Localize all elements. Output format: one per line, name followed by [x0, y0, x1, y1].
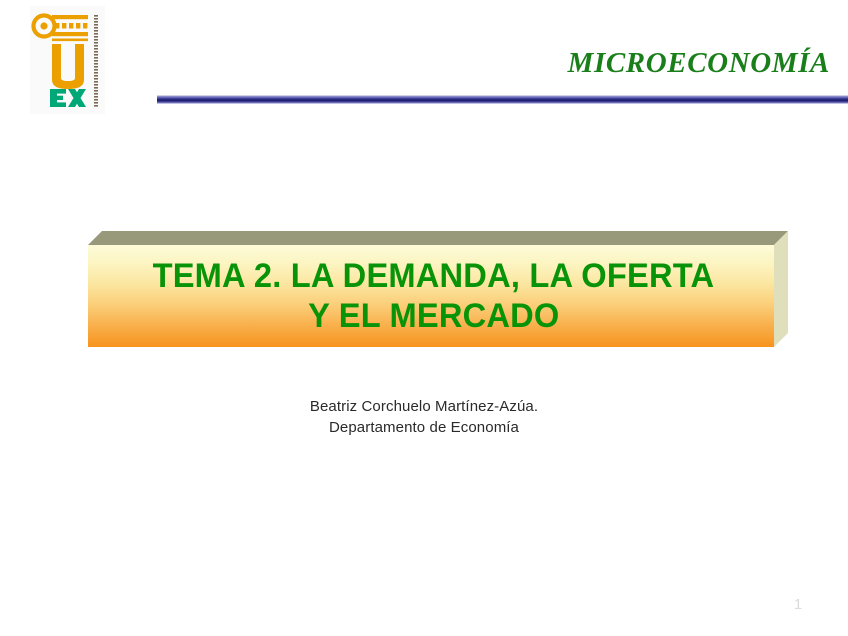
uex-logo-graphic — [30, 6, 105, 114]
author-department: Departamento de Economía — [174, 417, 674, 438]
slide-title-box: TEMA 2. LA DEMANDA, LA OFERTA Y EL MERCA… — [88, 231, 788, 347]
page-number: 1 — [788, 596, 808, 613]
slide-title-line-2: Y EL MERCADO — [302, 296, 559, 336]
course-title: MICROECONOMÍA — [420, 47, 830, 80]
header-divider-rule — [157, 95, 848, 104]
title-box-top-bevel — [88, 231, 788, 245]
author-name: Beatriz Corchuelo Martínez-Azúa. — [174, 396, 674, 417]
title-box-front-face: TEMA 2. LA DEMANDA, LA OFERTA Y EL MERCA… — [88, 245, 774, 347]
slide-title-line-1: TEMA 2. LA DEMANDA, LA OFERTA — [147, 256, 714, 296]
uex-logo — [30, 6, 105, 114]
author-block: Beatriz Corchuelo Martínez-Azúa. Departa… — [174, 396, 674, 438]
